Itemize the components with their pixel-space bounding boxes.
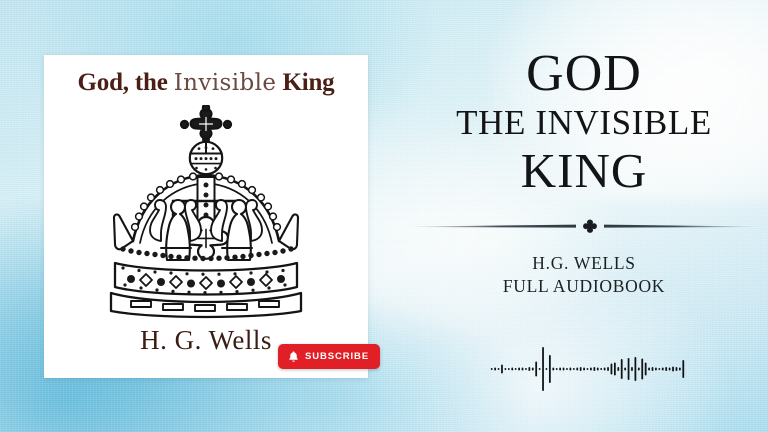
waveform-bar xyxy=(631,367,633,371)
waveform-bar xyxy=(682,360,684,378)
waveform-bar xyxy=(583,368,585,371)
waveform-bar xyxy=(635,357,637,381)
waveform-bar xyxy=(669,368,671,371)
waveform-bar xyxy=(563,368,565,371)
waveform-bar xyxy=(652,367,654,371)
waveform-bar xyxy=(573,368,575,370)
waveform-bar xyxy=(576,368,578,371)
waveform-bar xyxy=(621,359,623,379)
hero-panel: GOD THE INVISIBLE KING xyxy=(400,0,768,432)
waveform-bar xyxy=(522,368,524,371)
waveform-bar xyxy=(676,367,678,371)
quatrefoil-cross-ornament xyxy=(583,220,597,233)
waveform-bar xyxy=(593,367,595,371)
waveform-bar xyxy=(611,364,613,375)
bell-icon xyxy=(287,350,300,363)
hero-title-line-1: GOD xyxy=(400,46,768,102)
waveform-bar xyxy=(580,367,582,371)
waveform-bar xyxy=(658,368,660,370)
waveform-bar xyxy=(494,368,496,371)
hero-title-line-2: THE INVISIBLE xyxy=(400,102,768,144)
waveform-bar xyxy=(539,368,541,370)
waveform-bar xyxy=(515,368,517,370)
book-cover: God, the Invisible King xyxy=(44,55,368,378)
hero-credits: H.G. WELLS FULL AUDIOBOOK xyxy=(400,252,768,298)
waveform-bar xyxy=(617,367,619,371)
cover-title-part-1: God, the xyxy=(78,69,168,96)
waveform-bar xyxy=(655,368,657,371)
waveform-bar xyxy=(501,365,503,374)
credit-author: H.G. WELLS xyxy=(400,252,768,275)
waveform-bar xyxy=(535,362,537,377)
hero-title-line-3: KING xyxy=(400,144,768,198)
waveform-bar xyxy=(559,368,561,371)
waveform-bar xyxy=(511,368,513,371)
waveform-bar xyxy=(628,358,630,380)
waveform-bar xyxy=(604,368,606,371)
waveform-bar xyxy=(542,347,544,391)
waveform-bar xyxy=(518,368,520,371)
waveform-bar xyxy=(641,359,643,380)
waveform-bar xyxy=(665,367,667,371)
crown-icon xyxy=(83,105,329,319)
waveform-bar xyxy=(566,368,568,370)
waveform-bar xyxy=(645,363,647,376)
waveform-bar xyxy=(528,367,530,371)
cover-title-part-2: Invisible xyxy=(174,70,277,96)
waveform-bar xyxy=(525,368,527,370)
waveform-bar xyxy=(505,368,507,370)
waveform-bar xyxy=(546,368,548,370)
audio-waveform xyxy=(490,336,685,402)
waveform-bar xyxy=(491,368,493,370)
waveform-bar xyxy=(597,368,599,371)
waveform-bar xyxy=(587,368,589,370)
video-thumbnail: God, the Invisible King xyxy=(0,0,768,432)
waveform-bar xyxy=(614,363,616,376)
credit-format: FULL AUDIOBOOK xyxy=(400,275,768,298)
subscribe-button[interactable]: SUBSCRIBE xyxy=(278,344,380,369)
waveform-bar xyxy=(662,368,664,371)
waveform-bar xyxy=(600,368,602,370)
waveform-bar xyxy=(648,368,650,371)
hero-title: GOD THE INVISIBLE KING xyxy=(400,46,768,198)
waveform-bar xyxy=(498,368,500,370)
waveform-bar xyxy=(549,355,551,383)
waveform-bar xyxy=(508,368,510,370)
waveform-bar xyxy=(607,367,609,371)
waveform-bar xyxy=(556,368,558,370)
waveform-bar xyxy=(638,368,640,371)
waveform-bar xyxy=(590,368,592,371)
cover-title-part-3: King xyxy=(282,69,334,96)
ornament-divider xyxy=(408,218,760,234)
subscribe-label: SUBSCRIBE xyxy=(305,351,369,362)
waveform-bar xyxy=(532,368,534,371)
waveform-bar xyxy=(624,368,626,371)
waveform-bar xyxy=(679,368,681,371)
waveform-bar xyxy=(552,368,554,371)
cover-title: God, the Invisible King xyxy=(44,69,368,97)
waveform-bar xyxy=(570,368,572,371)
waveform-bar xyxy=(672,367,674,372)
